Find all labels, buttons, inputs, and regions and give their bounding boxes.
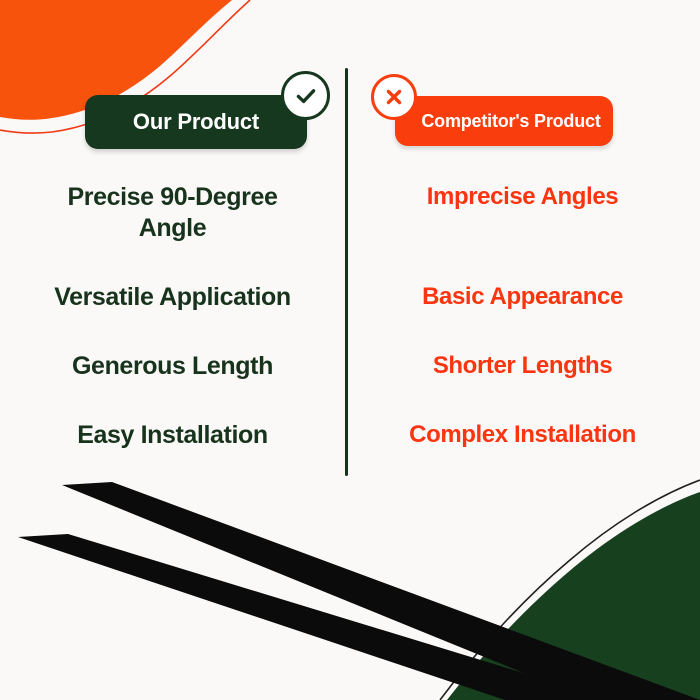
feature-theirs: Basic Appearance (345, 269, 700, 339)
our-product-badge[interactable]: Our Product (85, 95, 307, 149)
feature-ours: Easy Installation (0, 408, 345, 468)
feature-theirs: Complex Installation (345, 408, 700, 468)
black-angle-bar-upper (62, 482, 700, 700)
feature-row: Precise 90-Degree Angle Imprecise Angles (0, 172, 700, 269)
feature-theirs: Shorter Lengths (345, 339, 700, 408)
feature-ours: Versatile Application (0, 269, 345, 339)
feature-theirs: Imprecise Angles (345, 172, 700, 269)
check-circle-icon (281, 71, 330, 120)
feature-row: Easy Installation Complex Installation (0, 408, 700, 468)
feature-row: Versatile Application Basic Appearance (0, 269, 700, 339)
competitor-product-badge[interactable]: Competitor's Product (395, 96, 613, 146)
cross-circle-icon (371, 74, 417, 120)
green-corner-shape (447, 492, 700, 700)
our-product-badge-label: Our Product (133, 109, 259, 135)
feature-ours: Precise 90-Degree Angle (0, 172, 345, 269)
green-corner-outline (440, 480, 700, 700)
feature-comparison-list: Precise 90-Degree Angle Imprecise Angles… (0, 172, 700, 468)
feature-row: Generous Length Shorter Lengths (0, 339, 700, 408)
black-angle-bar-lower (18, 534, 612, 700)
feature-ours: Generous Length (0, 339, 345, 408)
competitor-product-badge-label: Competitor's Product (421, 111, 600, 132)
infographic-canvas: Our Product Competitor's Product Precise… (0, 0, 700, 700)
